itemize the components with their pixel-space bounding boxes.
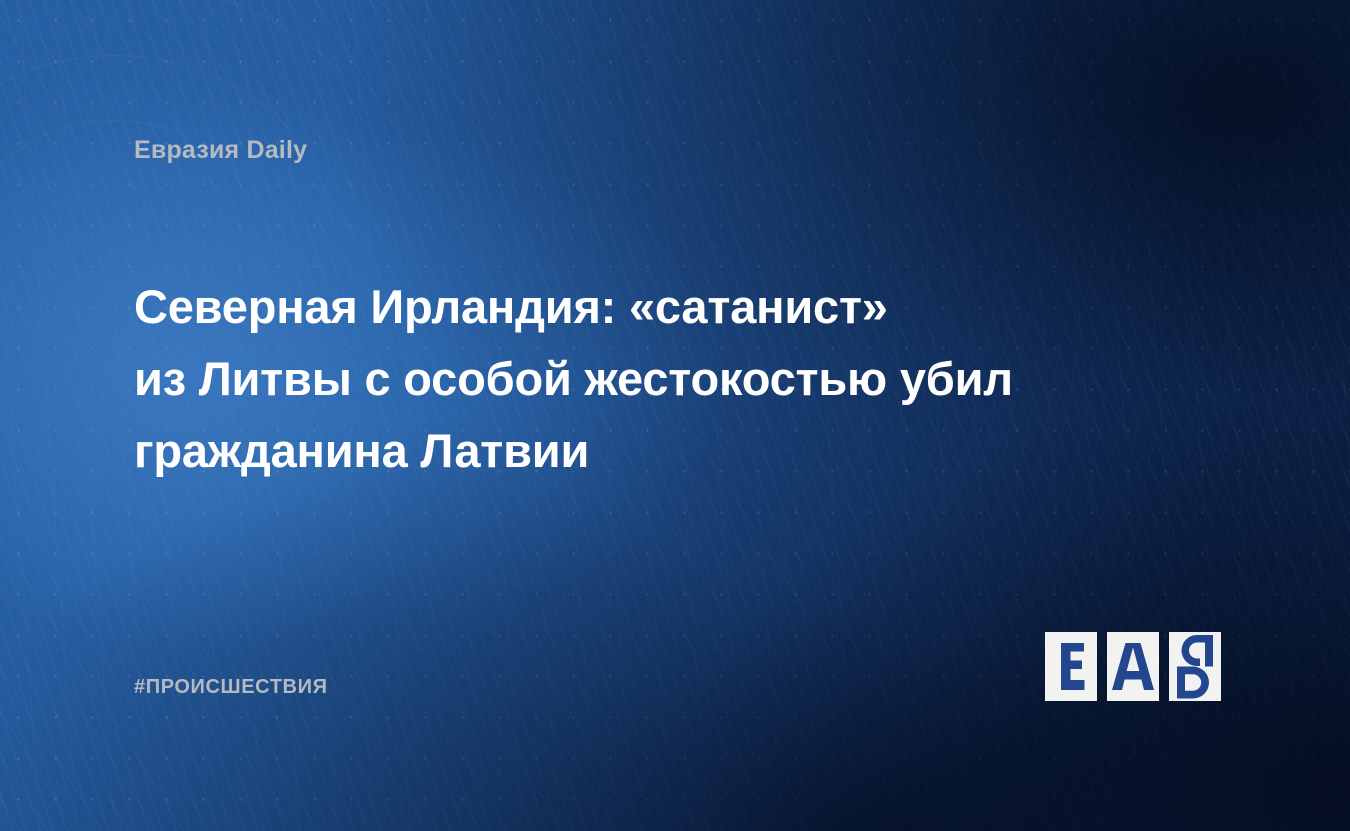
headline-line-1: Северная Ирландия: «сатанист» bbox=[134, 271, 1214, 343]
cover-content: Евразия Daily Северная Ирландия: «сатани… bbox=[0, 0, 1350, 831]
category-hashtag[interactable]: #ПРОИСШЕСТВИЯ bbox=[134, 676, 328, 699]
headline-line-2: из Литвы с особой жестокостью убил bbox=[134, 343, 1214, 415]
news-cover-card: Евразия Daily Северная Ирландия: «сатани… bbox=[0, 0, 1350, 831]
headline-line-3: гражданина Латвии bbox=[134, 415, 1214, 487]
headline-fulltext: Северная Ирландия: «сатанист» из Литвы с… bbox=[0, 0, 1, 1]
page-title: Северная Ирландия: «сатанист» из Литвы с… bbox=[134, 271, 1214, 487]
eadaily-logo[interactable] bbox=[1045, 632, 1221, 701]
brand-name: Евразия Daily bbox=[134, 136, 307, 165]
